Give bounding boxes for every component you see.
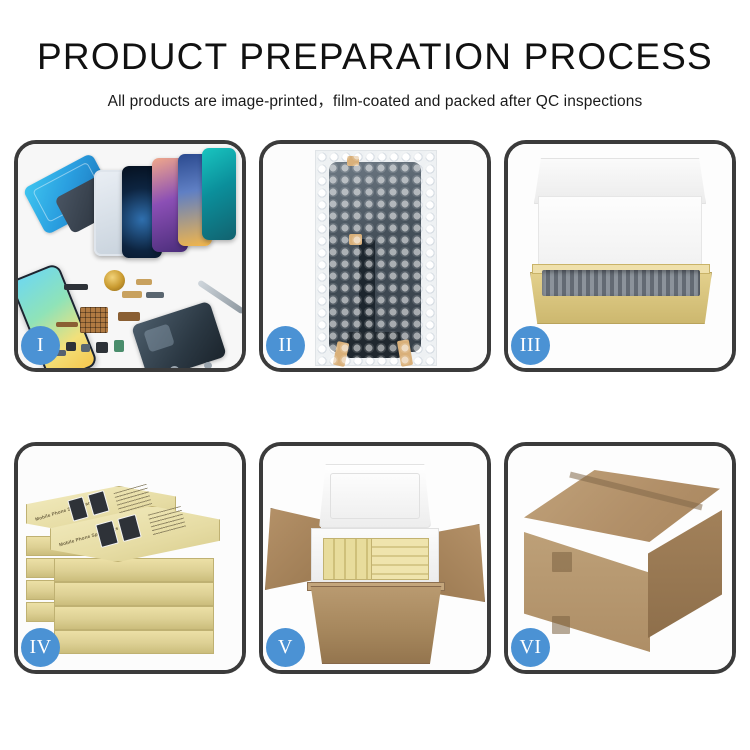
part-flex-cable bbox=[56, 322, 78, 327]
step-badge-5: V bbox=[266, 628, 305, 667]
tape-strip bbox=[347, 156, 359, 166]
bubble-wrapped-contents bbox=[542, 270, 700, 296]
logic-board-part bbox=[80, 307, 108, 333]
lcd-screen-assembly bbox=[329, 162, 421, 352]
part-chip bbox=[114, 340, 124, 352]
steps-grid: I II bbox=[14, 140, 736, 684]
step-badge-1: I bbox=[21, 326, 60, 365]
part-screw bbox=[170, 366, 179, 368]
step-badge-6: VI bbox=[511, 628, 550, 667]
phone-teal-gradient bbox=[202, 148, 236, 240]
copper-coil-part bbox=[104, 270, 125, 291]
step-panel-5: V bbox=[259, 442, 491, 674]
tape-strip bbox=[349, 234, 362, 245]
step-panel-6: VI bbox=[504, 442, 736, 674]
part-screw bbox=[204, 362, 212, 368]
product-preparation-infographic: PRODUCT PREPARATION PROCESS All products… bbox=[0, 0, 750, 750]
part-flex-cable bbox=[122, 291, 142, 298]
page-subtitle: All products are image-printed，film-coat… bbox=[0, 89, 750, 111]
carton-flap-mark bbox=[552, 616, 570, 634]
part-chip bbox=[64, 284, 88, 290]
step-badge-3: III bbox=[511, 326, 550, 365]
step-panel-4: Mobile Phone Spare Parts Mobile Phone Sp… bbox=[14, 442, 246, 674]
carton-body bbox=[305, 586, 447, 664]
part-chip bbox=[146, 292, 164, 298]
part-chip bbox=[96, 342, 108, 353]
part-flex-cable bbox=[118, 312, 140, 321]
step-panel-3: III bbox=[504, 140, 736, 372]
screen-connector-pad bbox=[347, 332, 401, 358]
part-chip bbox=[66, 342, 76, 351]
yellow-boxes-inside bbox=[371, 538, 429, 580]
carton-flap-mark bbox=[552, 552, 572, 572]
step-badge-2: II bbox=[266, 326, 305, 365]
kraft-box-stacked bbox=[54, 558, 214, 582]
kraft-box-stacked bbox=[54, 582, 214, 606]
foam-lid bbox=[319, 464, 431, 528]
step-badge-4: IV bbox=[21, 628, 60, 667]
part-flex-cable bbox=[136, 279, 152, 285]
kraft-box-stacked bbox=[54, 630, 214, 654]
step-panel-1: I bbox=[14, 140, 246, 372]
step-panel-2: II bbox=[259, 140, 491, 372]
header: PRODUCT PREPARATION PROCESS All products… bbox=[0, 38, 750, 111]
page-title: PRODUCT PREPARATION PROCESS bbox=[0, 38, 750, 77]
part-chip bbox=[81, 344, 90, 352]
kraft-box-stacked bbox=[54, 606, 214, 630]
